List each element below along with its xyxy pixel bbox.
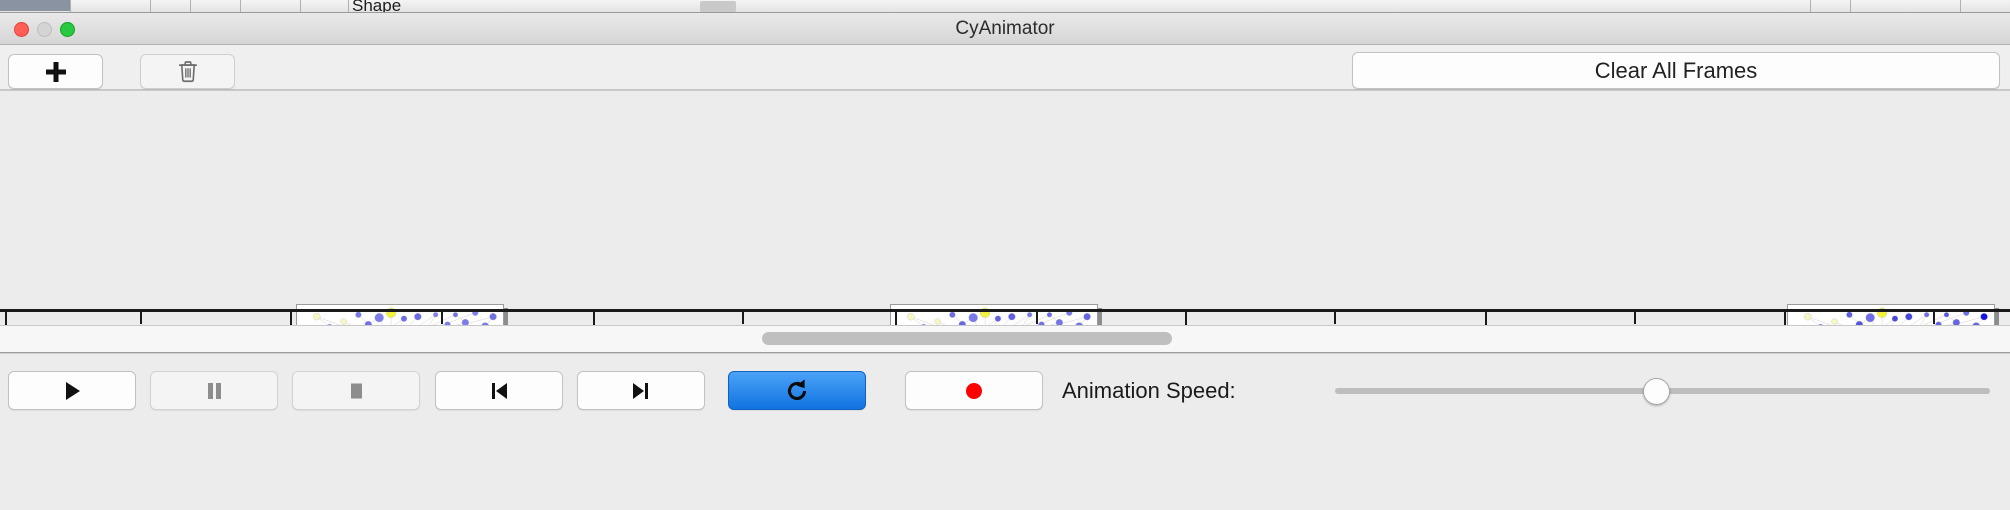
frame-thumbnail-1[interactable]: MCM1 bbox=[296, 304, 504, 326]
window-title: CyAnimator bbox=[0, 13, 2010, 45]
pause-icon bbox=[201, 378, 227, 404]
animation-speed-label: Animation Speed: bbox=[1062, 378, 1236, 404]
axis-tick bbox=[1485, 312, 1487, 326]
bg-divider bbox=[1850, 0, 1851, 13]
cyanimator-window: Shape CyAnimator bbox=[0, 0, 2010, 510]
animation-speed-slider-knob[interactable] bbox=[1643, 378, 1670, 405]
clear-all-frames-label: Clear All Frames bbox=[1595, 58, 1758, 84]
toolbar: Clear All Frames bbox=[0, 45, 2010, 90]
bg-divider bbox=[70, 0, 71, 13]
clear-all-frames-button[interactable]: Clear All Frames bbox=[1352, 52, 2000, 89]
axis-tick bbox=[1334, 312, 1336, 324]
timeline-scrollbar-track[interactable] bbox=[0, 326, 2010, 353]
background-window-shape-label: Shape bbox=[352, 0, 401, 13]
play-icon bbox=[59, 378, 85, 404]
record-icon bbox=[961, 378, 987, 404]
trash-icon bbox=[177, 60, 199, 84]
axis-tick bbox=[742, 312, 744, 324]
play-button[interactable] bbox=[8, 371, 136, 410]
loop-icon bbox=[783, 377, 811, 405]
stop-icon bbox=[343, 378, 369, 404]
playback-controls-bar: Animation Speed: bbox=[0, 353, 2010, 510]
axis-tick bbox=[1933, 312, 1935, 324]
axis-tick bbox=[1634, 312, 1636, 324]
axis-tick bbox=[5, 312, 7, 326]
axis-tick bbox=[895, 312, 897, 326]
stop-button[interactable] bbox=[292, 371, 420, 410]
skip-back-icon bbox=[486, 378, 512, 404]
axis-tick bbox=[1784, 312, 1786, 326]
bg-divider bbox=[300, 0, 301, 13]
axis-tick bbox=[441, 312, 443, 324]
bg-divider bbox=[150, 0, 151, 13]
axis-tick bbox=[1036, 312, 1038, 324]
delete-frame-button[interactable] bbox=[140, 54, 235, 89]
bg-divider bbox=[1810, 0, 1811, 13]
frame-thumbnail-2[interactable]: MCM1 bbox=[890, 304, 1098, 326]
bg-divider bbox=[190, 0, 191, 13]
timeline-axis bbox=[0, 309, 2010, 312]
background-window-titlebar-fragment bbox=[0, 0, 70, 11]
plus-icon bbox=[44, 60, 68, 84]
skip-to-start-button[interactable] bbox=[435, 371, 563, 410]
record-button[interactable] bbox=[905, 371, 1043, 410]
pause-button[interactable] bbox=[150, 371, 278, 410]
frames-container: MCM1MCM1MCM1 bbox=[0, 91, 2010, 326]
bg-divider bbox=[1960, 0, 1961, 13]
timeline-scrollbar-thumb[interactable] bbox=[762, 332, 1172, 345]
bg-divider bbox=[240, 0, 241, 13]
loop-button[interactable] bbox=[728, 371, 866, 410]
axis-tick bbox=[593, 312, 595, 326]
axis-tick bbox=[290, 312, 292, 326]
background-window-scrollbar bbox=[700, 1, 736, 12]
axis-tick bbox=[1185, 312, 1187, 326]
background-window-sliver: Shape bbox=[0, 0, 2010, 13]
timeline-panel[interactable]: MCM1MCM1MCM1 2131415161718 Seconds bbox=[0, 90, 2010, 326]
skip-to-end-button[interactable] bbox=[577, 371, 705, 410]
skip-forward-icon bbox=[628, 378, 654, 404]
frame-thumbnail-3[interactable]: MCM1 bbox=[1787, 304, 1995, 326]
axis-tick bbox=[140, 312, 142, 324]
add-frame-button[interactable] bbox=[8, 54, 103, 89]
bg-divider bbox=[348, 0, 349, 13]
title-bar: CyAnimator bbox=[0, 13, 2010, 45]
